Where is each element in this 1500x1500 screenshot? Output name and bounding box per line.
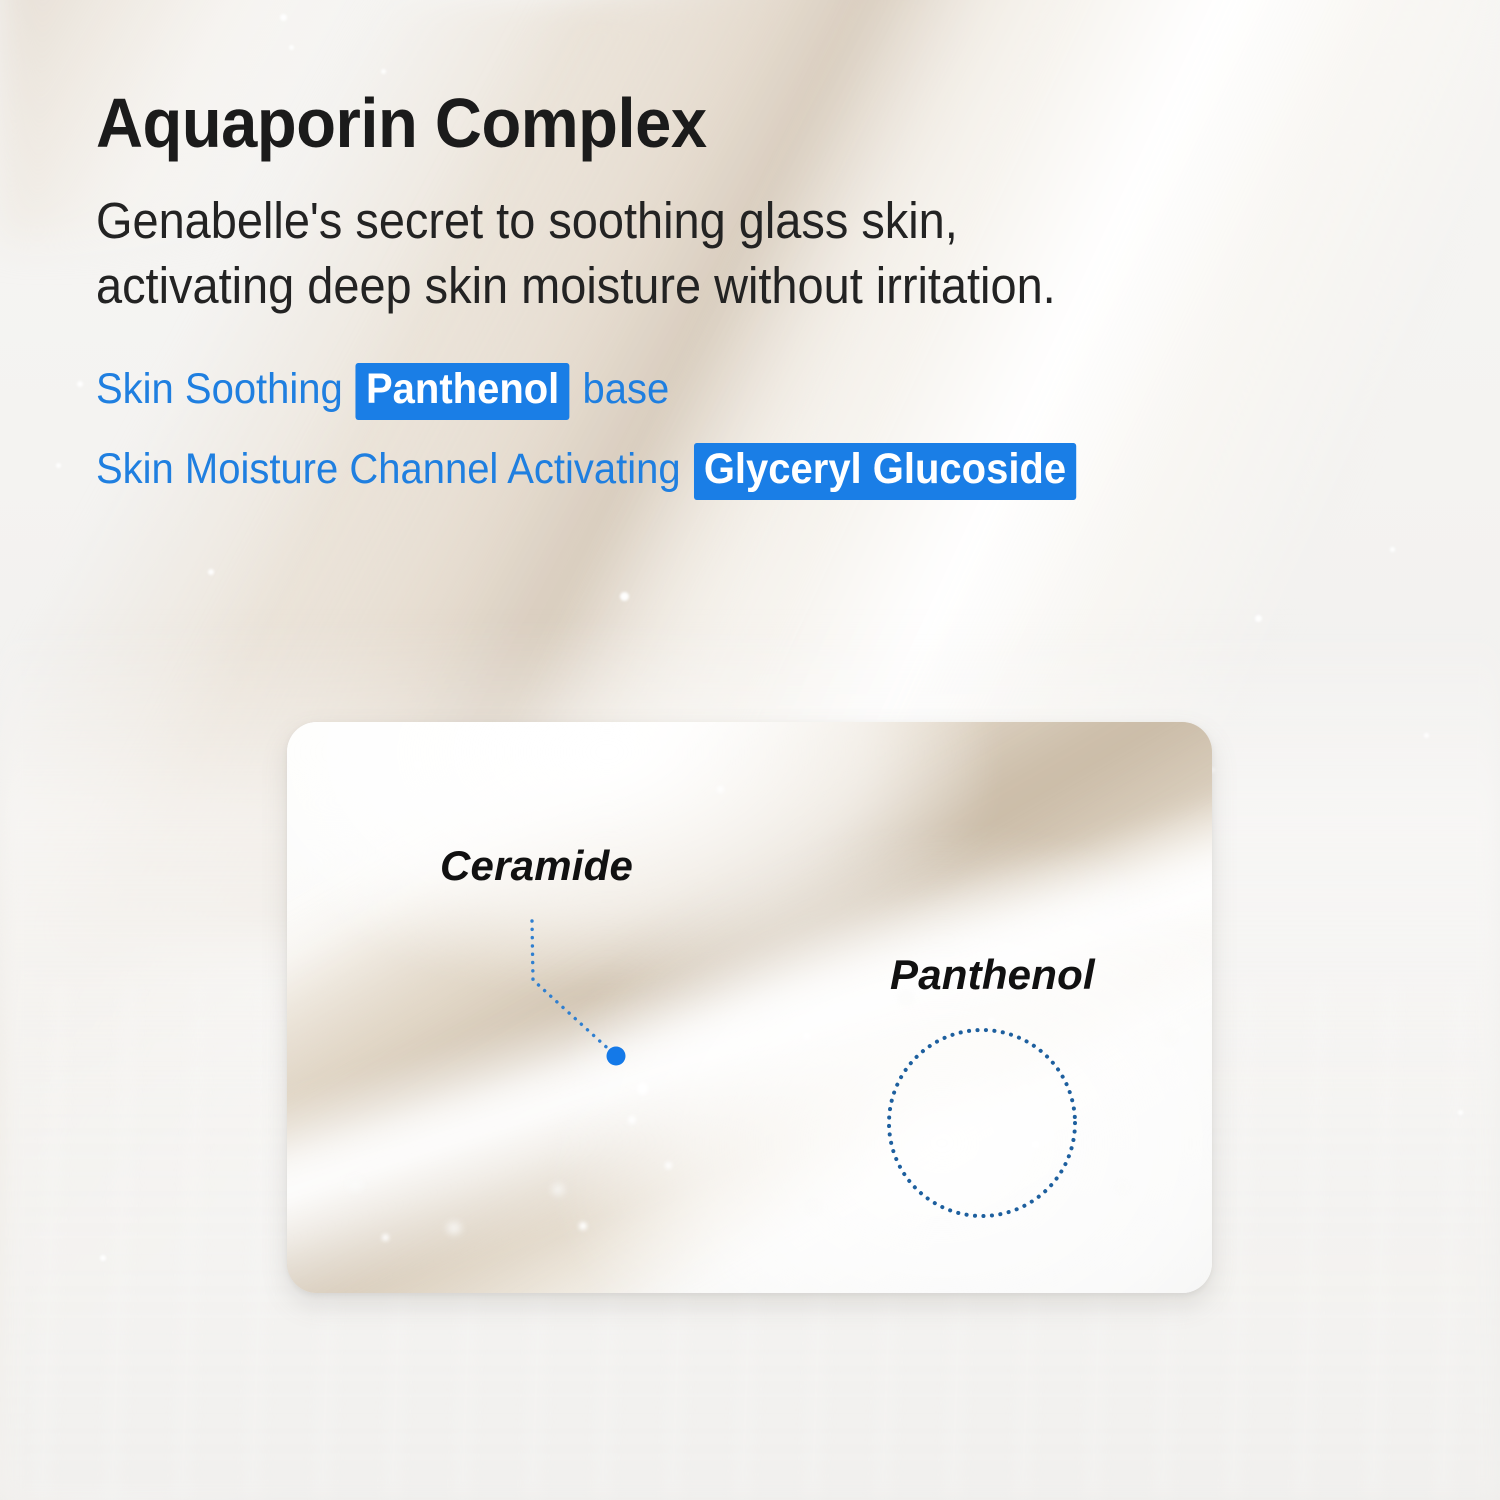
background-speck (620, 592, 629, 601)
ingredient-bullet-glyceryl-glucoside: Skin Moisture Channel Activating Glycery… (96, 443, 1333, 500)
ingredient-bullet-panthenol: Skin Soothing Panthenol base (96, 363, 1333, 420)
background-speck (100, 1255, 106, 1261)
card-annotation-overlay: Ceramide Panthenol (287, 722, 1212, 1293)
bullet-prefix: Skin Moisture Channel Activating (96, 445, 681, 493)
background-speck (1390, 547, 1395, 552)
page-title: Aquaporin Complex (96, 88, 1333, 158)
background-speck (208, 569, 214, 575)
background-speck (77, 381, 83, 387)
background-speck (1458, 1110, 1463, 1115)
ingredient-photo-card: Ceramide Panthenol (287, 722, 1212, 1293)
ingredient-bullet-list: Skin Soothing Panthenol base Skin Moistu… (96, 363, 1426, 500)
background-speck (289, 45, 294, 50)
panthenol-dotted-circle (889, 1030, 1075, 1216)
highlight-badge-panthenol: Panthenol (356, 363, 570, 420)
bullet-suffix: base (582, 365, 669, 413)
subtitle-line-2: activating deep skin moisture without ir… (96, 253, 1320, 318)
header-text-block: Aquaporin Complex Genabelle's secret to … (96, 88, 1426, 523)
background-speck (1255, 615, 1262, 622)
subtitle-line-1: Genabelle's secret to soothing glass ski… (96, 188, 1320, 253)
background-speck (381, 69, 386, 74)
bullet-prefix: Skin Soothing (96, 365, 343, 413)
promo-graphic-page: Aquaporin Complex Genabelle's secret to … (0, 0, 1500, 1500)
ceramide-endpoint-dot (607, 1047, 626, 1066)
ceramide-leader-line (532, 921, 615, 1055)
background-speck (56, 463, 61, 468)
highlight-badge-glyceryl-glucoside: Glyceryl Glucoside (694, 443, 1077, 500)
annotation-svg (287, 722, 1212, 1293)
page-subtitle: Genabelle's secret to soothing glass ski… (96, 188, 1320, 319)
background-speck (1424, 733, 1429, 738)
background-speck (280, 14, 287, 21)
